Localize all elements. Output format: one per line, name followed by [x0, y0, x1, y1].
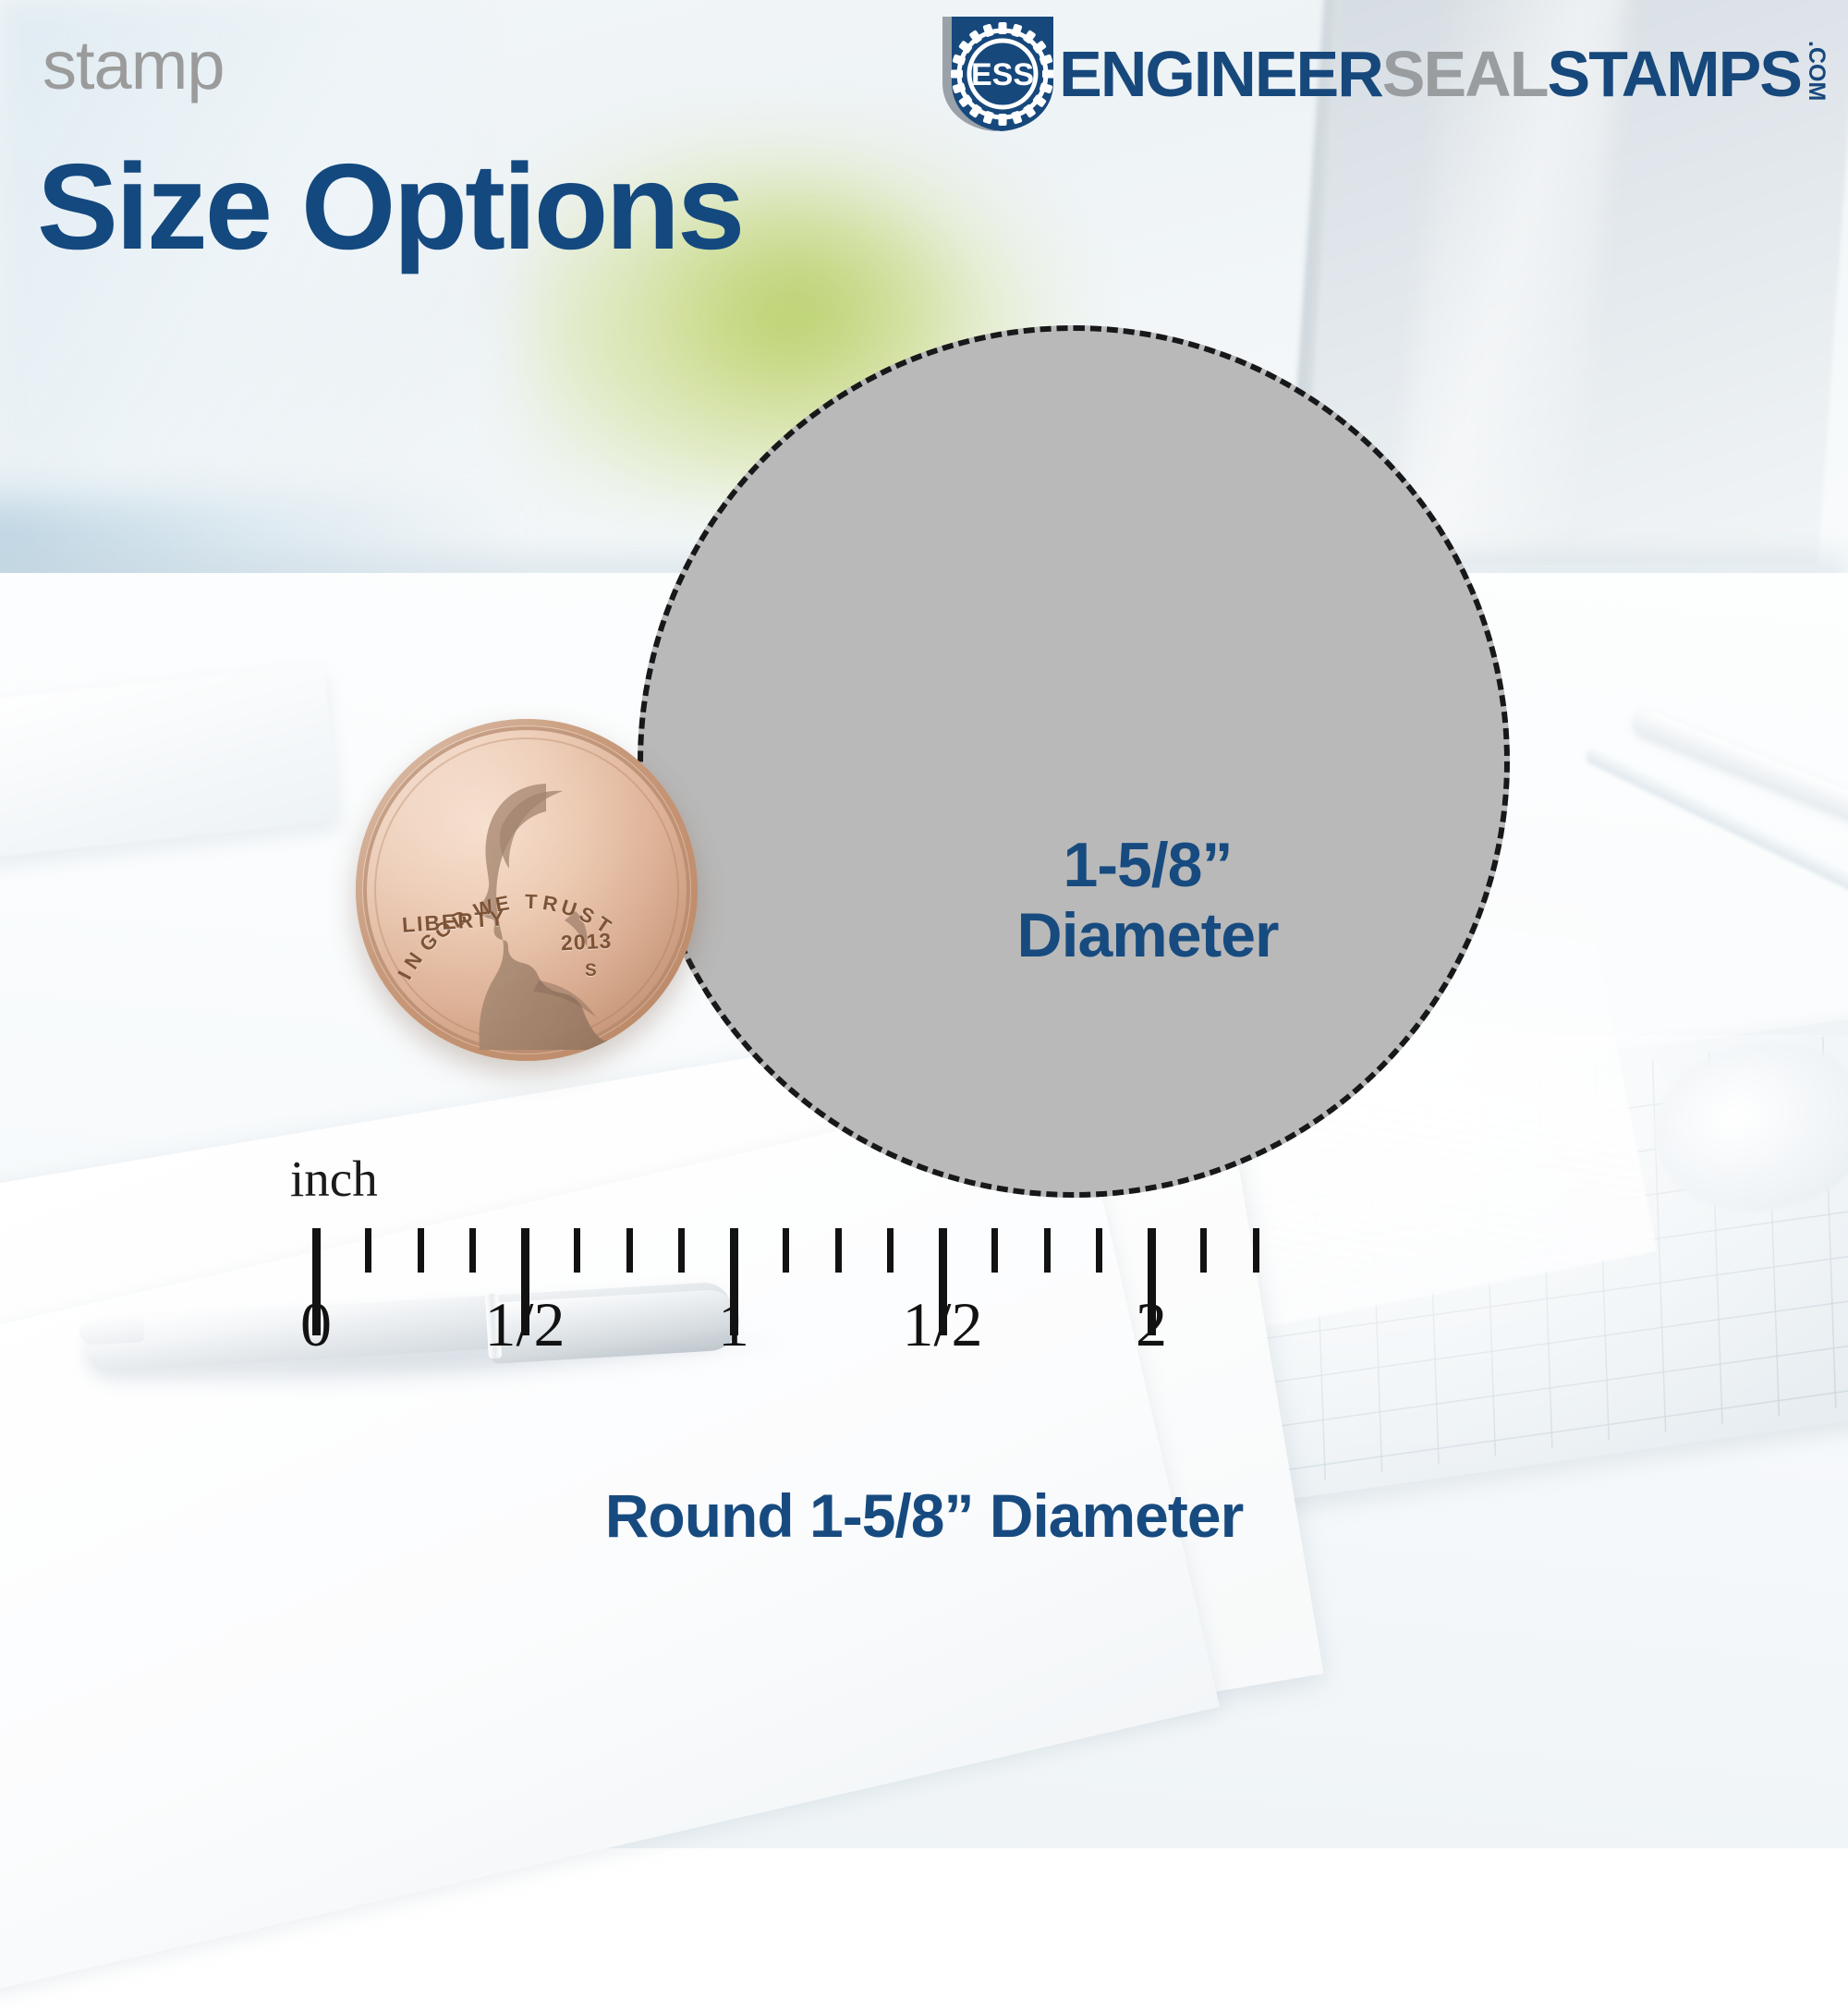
- logo-word-seal: SEAL: [1382, 42, 1548, 106]
- logo-word-engineer: ENGINEER: [1059, 42, 1382, 106]
- pen-tip: [79, 1314, 145, 1346]
- penny-mint-mark: S: [585, 961, 597, 981]
- logo-word-dotcom: .COM: [1805, 41, 1828, 101]
- logo-wordmark: ENGINEERSEALSTAMPS.COM: [1059, 42, 1828, 106]
- penny-motto: I N G O D W E T R U S T: [356, 719, 698, 1061]
- stamp-size-preview-circle: [638, 325, 1510, 1198]
- size-caption: Round 1-5/8” Diameter: [0, 1480, 1848, 1551]
- page-title: Size Options: [37, 137, 742, 276]
- penny-year-text: 2013: [560, 929, 613, 956]
- logo-word-stamps: STAMPS: [1548, 42, 1802, 106]
- ess-shield-icon: ESS: [935, 13, 1053, 135]
- ess-monogram: ESS: [971, 57, 1034, 92]
- penny-scale-reference: I N G O D W E T R U S T LIBERTY 2013 S: [356, 719, 698, 1061]
- brand-logo[interactable]: ESS ENGINEERSEALSTAMPS.COM: [935, 13, 1828, 135]
- eyebrow-label: stamp: [43, 26, 225, 104]
- ruler-unit-label: inch: [290, 1150, 378, 1208]
